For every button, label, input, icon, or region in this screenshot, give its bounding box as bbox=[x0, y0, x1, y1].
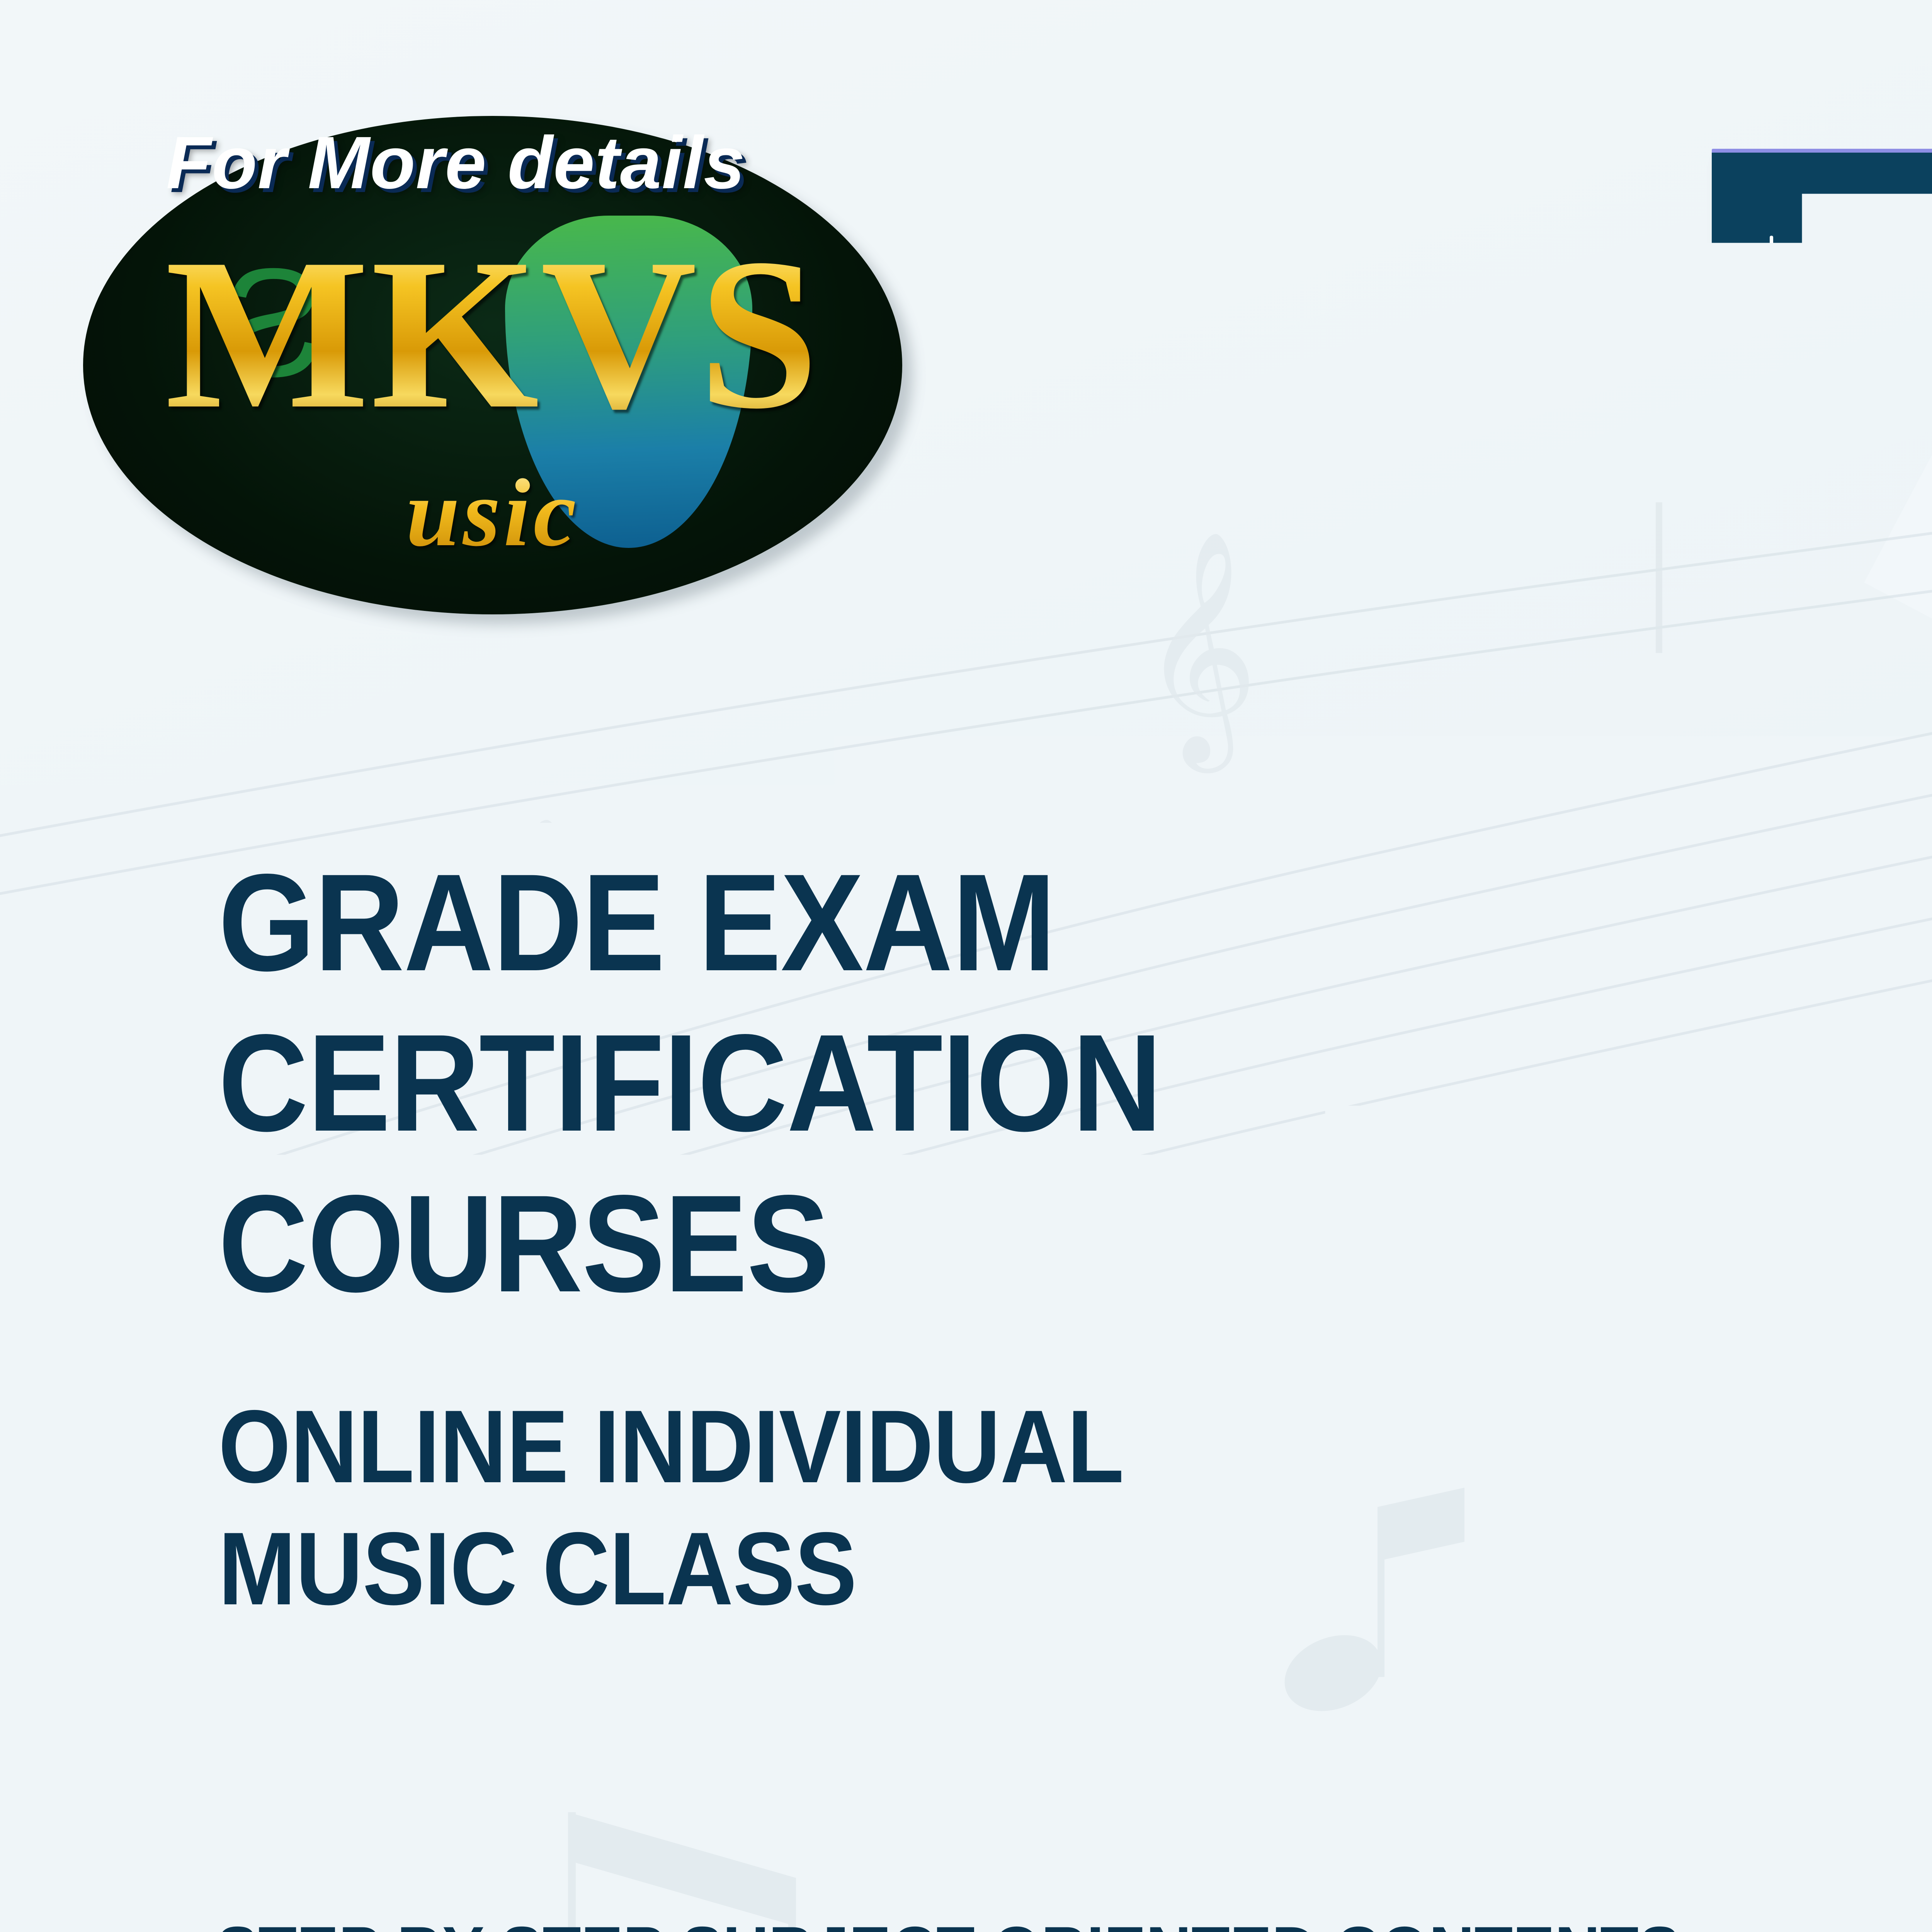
headline-line-1: GRADE EXAM CERTIFICATION bbox=[218, 842, 1932, 1163]
music-teachers-board-logo: MUSIC TEACHERS' BOARD bbox=[1712, 153, 1932, 612]
subheadline: ONLINE INDIVIDUAL MUSIC CLASS bbox=[218, 1385, 1818, 1629]
course-details-line-1: STEP BY STEP SUBJECT ORIENTED CONTENTS bbox=[216, 1905, 1932, 1932]
course-details: STEP BY STEP SUBJECT ORIENTED CONTENTS (… bbox=[216, 1905, 1932, 1932]
headline-line-2: COURSES bbox=[218, 1163, 1932, 1324]
poster-canvas: 𝄞 𝄞 𝄞 𝄞 𝄞 𝄞 𝄞 𝄞 Ƨ MKVS usic bbox=[0, 0, 1932, 1932]
subheadline-line-1: ONLINE INDIVIDUAL bbox=[218, 1385, 1818, 1507]
mkvs-subtext: usic bbox=[83, 465, 902, 561]
mtb-bar-lines-icon bbox=[1712, 153, 1932, 612]
mkvs-wordmark: MKVS bbox=[83, 226, 902, 442]
svg-text:𝄞: 𝄞 bbox=[1140, 528, 1259, 774]
cta-label: For More details bbox=[166, 120, 745, 205]
headline: GRADE EXAM CERTIFICATION COURSES bbox=[218, 842, 1932, 1324]
subheadline-line-2: MUSIC CLASS bbox=[218, 1507, 1818, 1629]
svg-text:𝄞: 𝄞 bbox=[869, 1701, 1029, 1932]
